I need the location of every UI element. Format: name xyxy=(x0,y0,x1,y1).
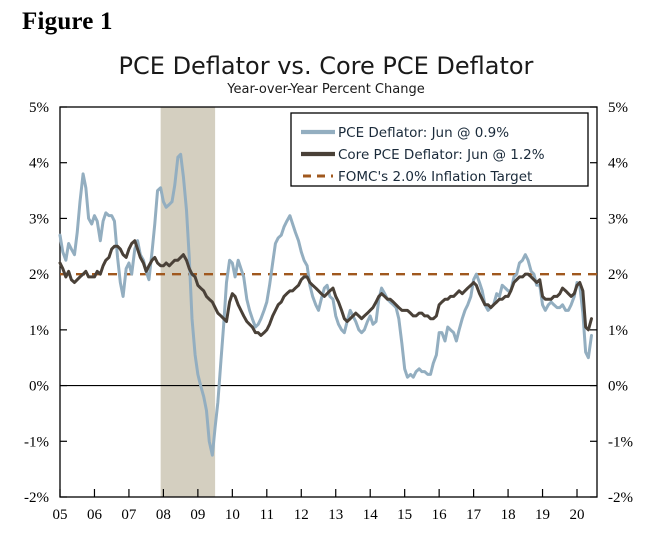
y-axis-label-left: 1% xyxy=(29,323,49,339)
x-axis-label: 06 xyxy=(87,507,103,523)
y-axis-label-right: -2% xyxy=(608,490,633,506)
x-axis-label: 14 xyxy=(363,507,379,523)
legend-label-0: PCE Deflator: Jun @ 0.9% xyxy=(338,125,509,141)
x-axis-label: 07 xyxy=(121,507,137,523)
x-axis-label: 11 xyxy=(260,507,274,523)
y-axis-label-right: 5% xyxy=(608,100,628,116)
x-axis-label: 20 xyxy=(570,507,585,523)
y-axis-label-left: 2% xyxy=(29,267,49,283)
y-axis-label-left: 5% xyxy=(29,100,49,116)
legend-label-1: Core PCE Deflator: Jun @ 1.2% xyxy=(338,147,545,163)
y-axis-label-right: 3% xyxy=(608,211,628,227)
y-axis-label-right: 0% xyxy=(608,379,628,395)
x-axis-label: 13 xyxy=(328,507,343,523)
y-axis-label-left: 4% xyxy=(29,156,49,172)
x-axis-label: 10 xyxy=(225,507,240,523)
recession-band xyxy=(161,107,215,497)
y-axis-label-right: 1% xyxy=(608,323,628,339)
legend-label-2: FOMC's 2.0% Inflation Target xyxy=(338,169,532,185)
x-axis-label: 15 xyxy=(397,507,412,523)
y-axis-label-left: 3% xyxy=(29,211,49,227)
series-line-pce xyxy=(60,154,591,455)
x-axis-label: 19 xyxy=(535,507,550,523)
chart-plot-area: 5%5%4%4%3%3%2%2%1%1%0%0%-1%-1%-2%-2%0506… xyxy=(0,0,652,534)
y-axis-label-right: 2% xyxy=(608,267,628,283)
chart-svg: 5%5%4%4%3%3%2%2%1%1%0%0%-1%-1%-2%-2%0506… xyxy=(0,0,652,534)
x-axis-label: 08 xyxy=(156,507,171,523)
y-axis-label-right: -1% xyxy=(608,434,633,450)
y-axis-label-left: -1% xyxy=(24,434,49,450)
x-axis-label: 05 xyxy=(53,507,68,523)
x-axis-label: 12 xyxy=(294,507,309,523)
x-axis-label: 09 xyxy=(190,507,205,523)
x-axis-label: 16 xyxy=(432,507,448,523)
y-axis-label-right: 4% xyxy=(608,156,628,172)
y-axis-label-left: 0% xyxy=(29,379,49,395)
y-axis-label-left: -2% xyxy=(24,490,49,506)
x-axis-label: 18 xyxy=(501,507,516,523)
x-axis-label: 17 xyxy=(466,507,482,523)
